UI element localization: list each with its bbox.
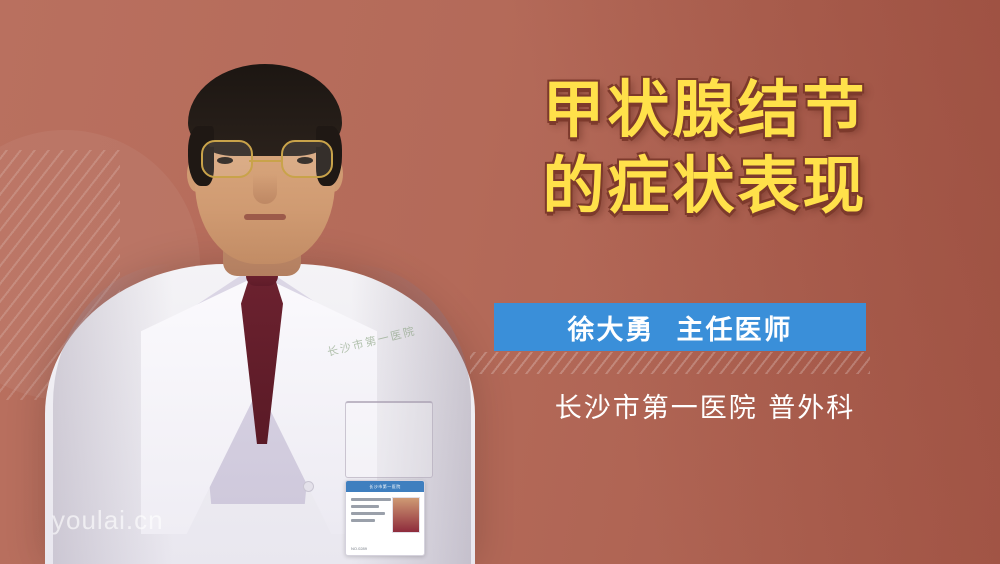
nose <box>253 174 277 204</box>
title-block: 甲状腺结节 的症状表现 <box>470 72 940 224</box>
speaker-name-bar: 徐大勇 主任医师 <box>494 303 866 351</box>
coat-pocket <box>345 401 433 478</box>
id-badge-text-lines <box>351 498 391 526</box>
mouth <box>244 214 286 220</box>
eyeglasses-lens-right <box>281 140 333 178</box>
coat-button <box>303 481 314 492</box>
id-badge-number: NO.0289 <box>351 546 367 551</box>
id-badge-header: 长沙市第一医院 <box>346 481 424 492</box>
site-watermark: youlai.cn <box>52 505 164 536</box>
speaker-affiliation: 长沙市第一医院 普外科 <box>470 386 940 425</box>
title-line-1: 甲状腺结节 <box>470 72 940 148</box>
eyeglasses-bridge <box>249 160 281 163</box>
id-badge-photo <box>392 497 420 533</box>
id-badge: 长沙市第一医院 NO.0289 <box>345 480 425 556</box>
doctor-portrait: 长沙市第一医院 长沙市第一医院 NO.0289 <box>45 19 475 564</box>
eyeglasses-lens-left <box>201 140 253 178</box>
video-thumbnail: 长沙市第一医院 长沙市第一医院 NO.0289 甲状腺结节 的症状表现 徐大勇 … <box>0 0 1000 564</box>
speaker-name: 徐大勇 <box>568 308 655 347</box>
hatch-decoration-under-namebar <box>470 352 870 374</box>
speaker-title: 主任医师 <box>677 308 793 347</box>
title-line-2: 的症状表现 <box>470 148 940 224</box>
